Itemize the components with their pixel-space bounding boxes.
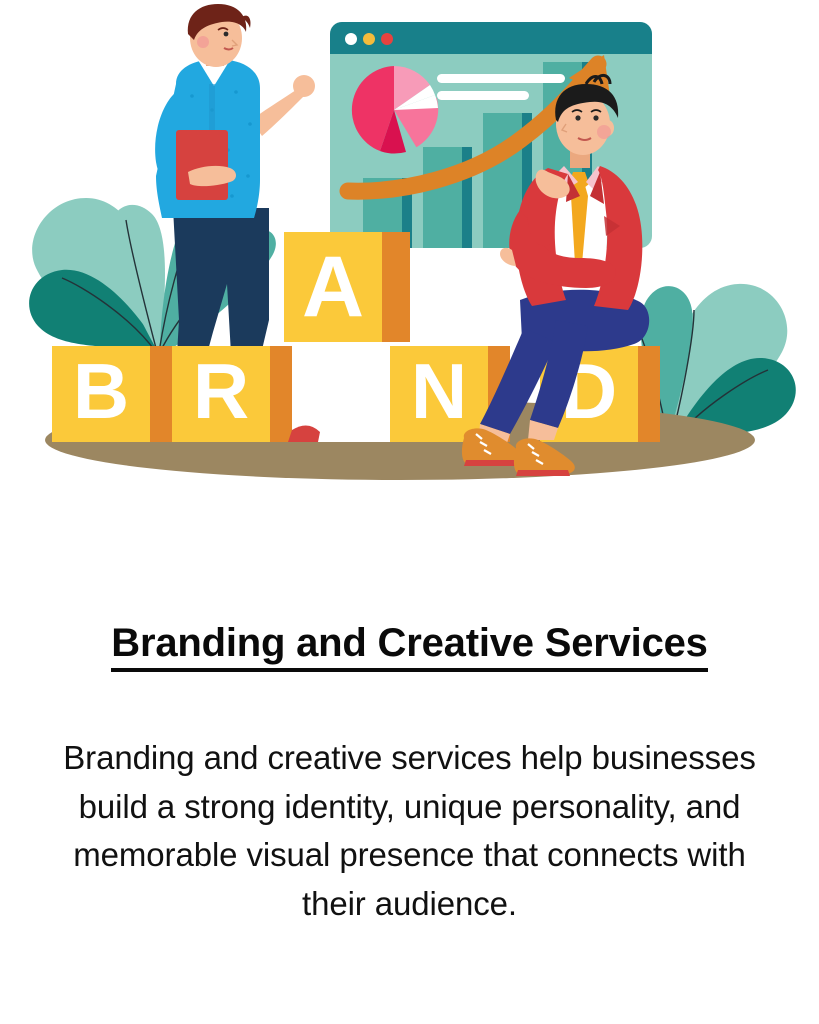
block-A: A: [284, 232, 410, 342]
article-content: Branding and Creative Services Branding …: [0, 520, 819, 1024]
branding-illustration: A B R: [0, 0, 819, 520]
window-dot-white-icon[interactable]: [345, 33, 357, 45]
red-folder-icon: [176, 130, 228, 200]
page-title-wrapper: Branding and Creative Services: [38, 572, 781, 672]
block-B: B: [52, 346, 172, 442]
block-letter-B: B: [73, 347, 129, 435]
block-letter-R: R: [193, 347, 249, 435]
window-dot-red-icon[interactable]: [381, 33, 393, 45]
page-title: Branding and Creative Services: [111, 620, 707, 672]
block-letter-A: A: [302, 239, 364, 335]
window-dot-yellow-icon[interactable]: [363, 33, 375, 45]
window-titlebar: [330, 22, 652, 54]
page-root: A B R: [0, 0, 819, 1024]
block-letter-N: N: [411, 347, 467, 435]
article-body: Branding and creative services help busi…: [50, 734, 770, 928]
illustration-canvas: A B R: [0, 0, 819, 520]
block-R: R: [172, 346, 292, 442]
